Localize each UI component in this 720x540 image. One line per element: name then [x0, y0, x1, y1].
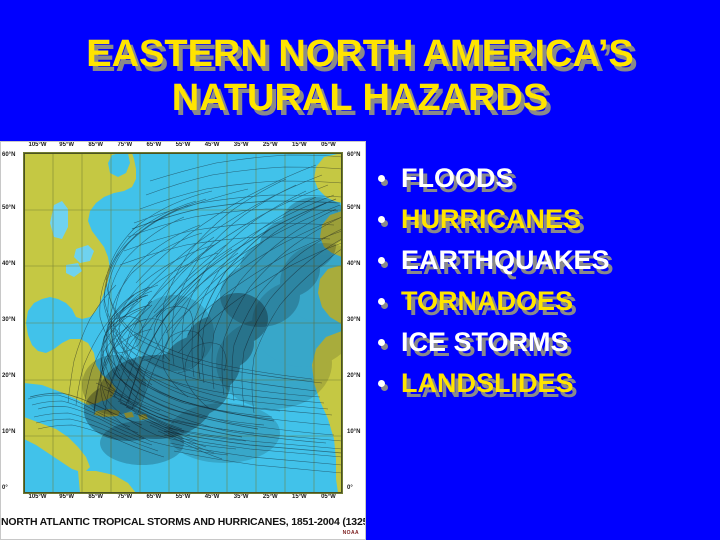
lon-tick-label: 105°W: [28, 494, 46, 500]
lat-tick-label: 40°N: [2, 261, 15, 267]
lon-tick-label: 05°W: [321, 142, 336, 148]
lat-tick-label: 40°N: [347, 261, 360, 267]
map-credit-noaa: NOAA: [1, 530, 359, 536]
hazard-list-item-label: HURRICANES: [401, 204, 581, 235]
latitude-axis-left: 60°N50°N40°N30°N20°N10°N0°: [1, 152, 23, 494]
lon-tick-label: 45°W: [205, 494, 220, 500]
hazard-list: FLOODSHURRICANESEARTHQUAKESTORNADOESICE …: [372, 158, 716, 404]
lat-tick-label: 10°N: [2, 429, 15, 435]
lon-tick-label: 95°W: [59, 494, 74, 500]
hazard-list-item-label: LANDSLIDES: [401, 368, 574, 399]
lat-tick-label: 10°N: [347, 429, 360, 435]
lat-tick-label: 60°N: [347, 152, 360, 158]
lon-tick-label: 05°W: [321, 494, 336, 500]
bullet-dot-icon: [378, 298, 385, 305]
hurricane-track-map-figure: 105°W95°W85°W75°W65°W55°W45°W35°W25°W15°…: [0, 141, 366, 540]
longitude-axis-bottom: 105°W95°W85°W75°W65°W55°W45°W35°W25°W15°…: [1, 494, 365, 505]
presentation-slide: EASTERN NORTH AMERICA’S NATURAL HAZARDS …: [0, 0, 720, 540]
title-line-2: NATURAL HAZARDS: [0, 76, 720, 120]
bullet-dot-icon: [378, 257, 385, 264]
map-graphic: [24, 153, 342, 493]
bullet-dot-icon: [378, 380, 385, 387]
lat-tick-label: 60°N: [2, 152, 15, 158]
lat-tick-label: 50°N: [347, 205, 360, 211]
lon-tick-label: 55°W: [176, 494, 191, 500]
lon-tick-label: 15°W: [292, 142, 307, 148]
map-plot-area: [23, 152, 343, 494]
lon-tick-label: 25°W: [263, 142, 278, 148]
lat-tick-label: 0°: [347, 485, 353, 491]
lon-tick-label: 85°W: [88, 494, 103, 500]
lat-tick-label: 30°N: [2, 317, 15, 323]
lon-tick-label: 65°W: [147, 142, 162, 148]
lon-tick-label: 15°W: [292, 494, 307, 500]
bullet-dot-icon: [378, 216, 385, 223]
latitude-axis-right: 60°N50°N40°N30°N20°N10°N0°: [343, 152, 365, 494]
bullet-dot-icon: [378, 175, 385, 182]
hazard-list-item[interactable]: ICE STORMS: [372, 322, 716, 363]
hazard-list-item[interactable]: LANDSLIDES: [372, 363, 716, 404]
map-frame: 105°W95°W85°W75°W65°W55°W45°W35°W25°W15°…: [1, 142, 365, 514]
lon-tick-label: 85°W: [88, 142, 103, 148]
lat-tick-label: 20°N: [2, 373, 15, 379]
lon-tick-label: 35°W: [234, 142, 249, 148]
hazard-list-item-label: TORNADOES: [401, 286, 573, 317]
lat-tick-label: 0°: [2, 485, 8, 491]
lon-tick-label: 105°W: [28, 142, 46, 148]
hazard-list-item-label: FLOODS: [401, 163, 514, 194]
bullet-dot-icon: [378, 339, 385, 346]
hazard-list-item[interactable]: EARTHQUAKES: [372, 240, 716, 281]
lat-tick-label: 50°N: [2, 205, 15, 211]
lon-tick-label: 65°W: [147, 494, 162, 500]
hazard-list-item-label: EARTHQUAKES: [401, 245, 610, 276]
title-line-1: EASTERN NORTH AMERICA’S: [0, 32, 720, 76]
lon-tick-label: 95°W: [59, 142, 74, 148]
hazard-list-item-label: ICE STORMS: [401, 327, 569, 358]
lon-tick-label: 25°W: [263, 494, 278, 500]
lon-tick-label: 75°W: [117, 142, 132, 148]
lon-tick-label: 55°W: [176, 142, 191, 148]
lat-tick-label: 30°N: [347, 317, 360, 323]
lon-tick-label: 45°W: [205, 142, 220, 148]
lat-tick-label: 20°N: [347, 373, 360, 379]
lon-tick-label: 75°W: [117, 494, 132, 500]
hazard-list-item[interactable]: FLOODS: [372, 158, 716, 199]
hazard-list-item[interactable]: TORNADOES: [372, 281, 716, 322]
map-caption-text: NORTH ATLANTIC TROPICAL STORMS AND HURRI…: [1, 516, 365, 528]
page-title: EASTERN NORTH AMERICA’S NATURAL HAZARDS: [0, 32, 720, 120]
lon-tick-label: 35°W: [234, 494, 249, 500]
hazard-list-item[interactable]: HURRICANES: [372, 199, 716, 240]
